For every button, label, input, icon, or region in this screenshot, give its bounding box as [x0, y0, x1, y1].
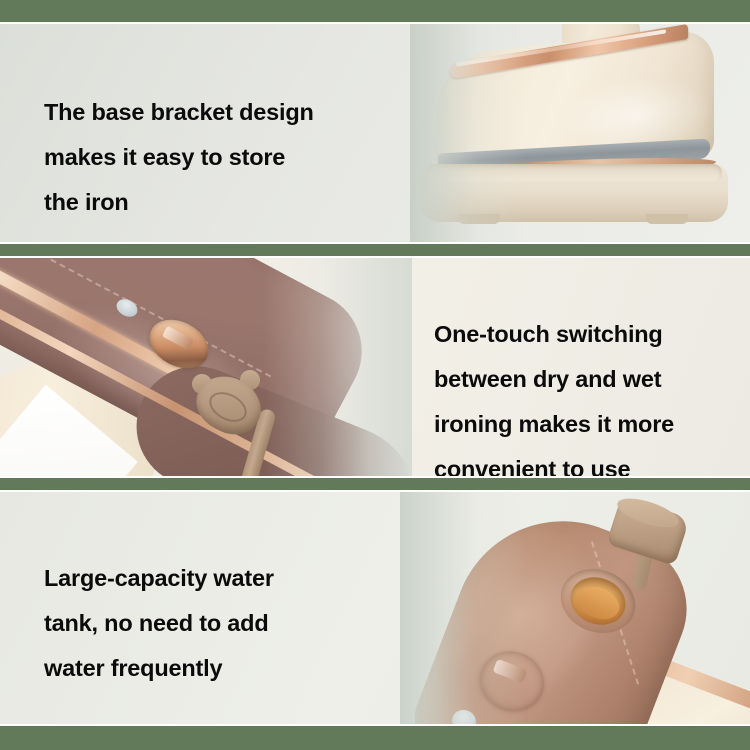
feature-line: the iron [44, 180, 314, 225]
iron-on-base-bracket-photo [410, 24, 750, 242]
iron-control-button-closeup-photo [0, 258, 412, 476]
base-foot-right [646, 214, 688, 224]
product-feature-page: The base bracket design makes it easy to… [0, 0, 750, 750]
frame-band-bottom [0, 726, 750, 750]
feature-line: water frequently [44, 646, 274, 691]
feature-line: One-touch switching [434, 312, 674, 357]
feature-text-base-bracket: The base bracket design makes it easy to… [44, 90, 314, 225]
feature-text-water-tank: Large-capacity water tank, no need to ad… [44, 556, 274, 691]
feature-line: Large-capacity water [44, 556, 274, 601]
feature-line: The base bracket design [44, 90, 314, 135]
feature-line: convenient to use [434, 447, 674, 478]
feature-line: tank, no need to add [44, 601, 274, 646]
feature-panel-one-touch-switch: One-touch switching between dry and wet … [0, 256, 750, 478]
feature-text-one-touch-switch: One-touch switching between dry and wet … [434, 312, 674, 478]
feature-panel-base-bracket: The base bracket design makes it easy to… [0, 22, 750, 244]
water-tank-opening-closeup-photo [400, 492, 750, 724]
feature-panel-water-tank: Large-capacity water tank, no need to ad… [0, 490, 750, 726]
frame-band-middle-upper [0, 244, 750, 256]
feature-line: between dry and wet [434, 357, 674, 402]
frame-band-middle-lower [0, 478, 750, 490]
feature-line: ironing makes it more [434, 402, 674, 447]
base-bracket-lip [426, 164, 722, 182]
frame-band-top [0, 0, 750, 22]
feature-line: makes it easy to store [44, 135, 314, 180]
base-foot-left [458, 214, 500, 224]
